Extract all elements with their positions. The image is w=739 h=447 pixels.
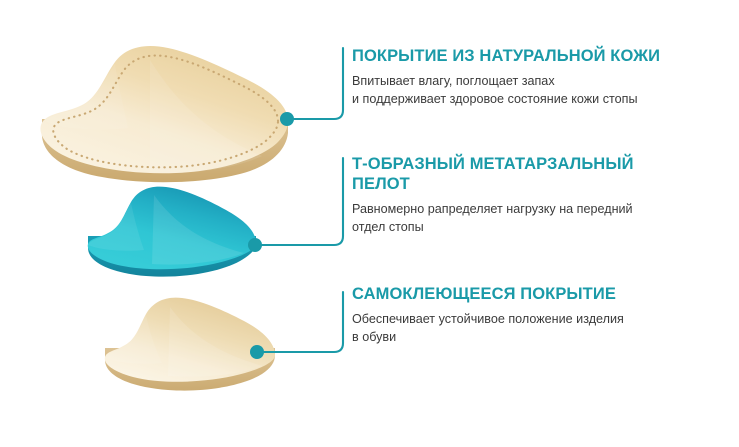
metatarsal-pad-shape [88, 187, 256, 277]
connector-line-1 [280, 48, 343, 126]
feature-block-self-adhesive-layer: САМОКЛЕЮЩЕЕСЯ ПОКРЫТИЕ Обеспечивает усто… [352, 284, 737, 347]
connector-dot-1 [280, 112, 294, 126]
feature-title: САМОКЛЕЮЩЕЕСЯ ПОКРЫТИЕ [352, 284, 737, 304]
feature-block-leather-covering: ПОКРЫТИЕ ИЗ НАТУРАЛЬНОЙ КОЖИ Впитывает в… [352, 46, 737, 109]
leather-pad-shape [40, 46, 288, 182]
feature-title: Т-ОБРАЗНЫЙ МЕТАТАРЗАЛЬНЫЙ ПЕЛОТ [352, 154, 737, 194]
feature-description: Впитывает влагу, поглощает запах и подде… [352, 73, 737, 109]
feature-description: Равномерно рапределяет нагрузку на перед… [352, 201, 737, 237]
connector-dot-3 [250, 345, 264, 359]
connector-line-2 [248, 158, 343, 252]
adhesive-pad-shape [105, 298, 275, 391]
feature-block-metatarsal-pad: Т-ОБРАЗНЫЙ МЕТАТАРЗАЛЬНЫЙ ПЕЛОТ Равномер… [352, 154, 737, 237]
feature-description: Обеспечивает устойчивое положение издели… [352, 311, 737, 347]
connector-dot-2 [248, 238, 262, 252]
infographic-canvas: ПОКРЫТИЕ ИЗ НАТУРАЛЬНОЙ КОЖИ Впитывает в… [0, 0, 739, 447]
feature-title: ПОКРЫТИЕ ИЗ НАТУРАЛЬНОЙ КОЖИ [352, 46, 737, 66]
